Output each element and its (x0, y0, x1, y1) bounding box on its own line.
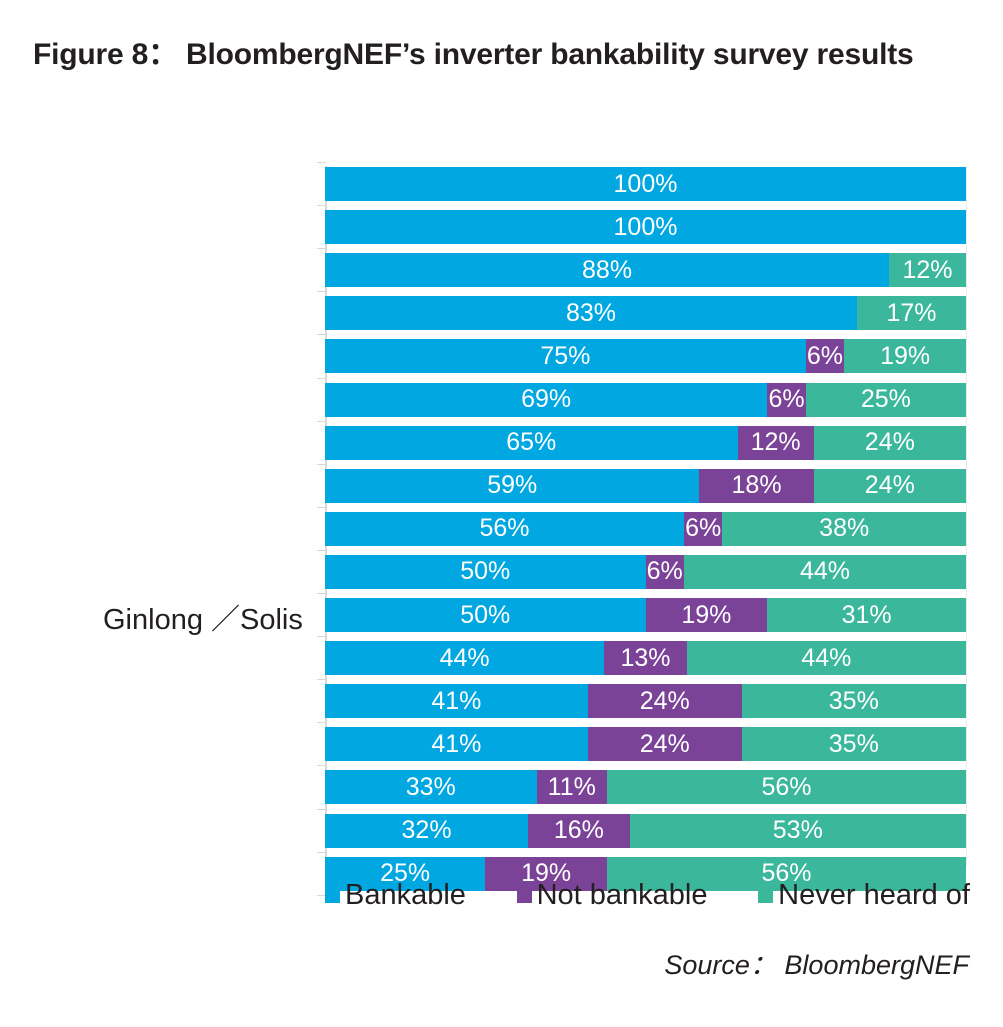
bar-segment-value: 41% (431, 732, 481, 757)
bar-segment-never-heard-of[interactable]: 31% (767, 598, 966, 632)
bar-segment-value: 75% (540, 344, 590, 369)
bar-row[interactable]: 50%6%44% (325, 555, 966, 589)
bar-row[interactable]: 69%6%25% (325, 383, 966, 417)
bar-segment-bankable[interactable]: 33% (325, 770, 537, 804)
y-axis-tick (317, 248, 326, 249)
y-axis-tick (317, 765, 326, 766)
bar-segment-never-heard-of[interactable]: 38% (722, 512, 966, 546)
source-note: Source： BloombergNEF (664, 943, 969, 982)
bar-segment-value: 50% (460, 603, 510, 628)
bar-segment-not-bankable[interactable]: 13% (604, 641, 687, 675)
bar-segment-value: 12% (903, 258, 953, 283)
y-axis-tick (317, 507, 326, 508)
bar-segment-value: 24% (865, 430, 915, 455)
bar-segment-not-bankable[interactable]: 6% (684, 512, 722, 546)
bar-segment-bankable[interactable]: 59% (325, 469, 699, 503)
bar-segment-never-heard-of[interactable]: 17% (857, 296, 966, 330)
legend-swatch-icon (758, 888, 773, 903)
bar-segment-never-heard-of[interactable]: 56% (607, 770, 966, 804)
bar-segment-value: 24% (865, 473, 915, 498)
bar-segment-value: 44% (801, 646, 851, 671)
legend-item-never-heard-of[interactable]: Never heard of (758, 881, 970, 910)
y-axis-tick (317, 722, 326, 723)
plot-right-gridline (966, 166, 967, 866)
bar-segment-never-heard-of[interactable]: 53% (630, 814, 966, 848)
bar-segment-not-bankable[interactable]: 18% (699, 469, 813, 503)
bar-segment-value: 6% (685, 516, 721, 541)
bar-segment-not-bankable[interactable]: 6% (646, 555, 684, 589)
bar-segment-bankable[interactable]: 100% (325, 210, 966, 244)
bar-segment-bankable[interactable]: 69% (325, 383, 767, 417)
bar-segment-bankable[interactable]: 75% (325, 339, 806, 373)
bar-segment-bankable[interactable]: 50% (325, 598, 646, 632)
y-axis-tick (317, 636, 326, 637)
bar-segment-value: 35% (829, 732, 879, 757)
bar-segment-value: 16% (554, 818, 604, 843)
bar-row[interactable]: 100% (325, 167, 966, 201)
bar-segment-value: 69% (521, 387, 571, 412)
bar-segment-value: 24% (640, 732, 690, 757)
bar-segment-not-bankable[interactable]: 19% (646, 598, 768, 632)
stacked-bar-chart: Ginlong ／Solis 100%100%88%12%83%17%75%6%… (0, 0, 1003, 1027)
bar-segment-bankable[interactable]: 88% (325, 253, 889, 287)
bar-segment-not-bankable[interactable]: 24% (588, 684, 742, 718)
bar-segment-value: 12% (751, 430, 801, 455)
y-axis-tick (317, 334, 326, 335)
bar-segment-value: 38% (819, 516, 869, 541)
bar-segment-value: 44% (440, 646, 490, 671)
bar-segment-value: 41% (431, 689, 481, 714)
bar-segment-value: 83% (566, 301, 616, 326)
bar-segment-not-bankable[interactable]: 6% (806, 339, 844, 373)
bar-segment-bankable[interactable]: 32% (325, 814, 528, 848)
y-axis-tick (317, 162, 326, 163)
y-axis-tick (317, 421, 326, 422)
bar-segment-never-heard-of[interactable]: 24% (814, 426, 966, 460)
legend: BankableNot bankableNever heard of (325, 881, 970, 910)
bar-segment-never-heard-of[interactable]: 35% (742, 684, 966, 718)
bar-row[interactable]: 83%17% (325, 296, 966, 330)
bar-segment-never-heard-of[interactable]: 24% (814, 469, 966, 503)
bar-row[interactable]: 44%13%44% (325, 641, 966, 675)
bar-segment-value: 19% (681, 603, 731, 628)
bar-row[interactable]: 41%24%35% (325, 684, 966, 718)
bar-segment-value: 31% (842, 603, 892, 628)
legend-item-bankable[interactable]: Bankable (325, 881, 466, 910)
bar-row[interactable]: 56%6%38% (325, 512, 966, 546)
bar-segment-value: 25% (861, 387, 911, 412)
y-axis-tick (317, 809, 326, 810)
bar-segment-bankable[interactable]: 100% (325, 167, 966, 201)
bar-row[interactable]: 100% (325, 210, 966, 244)
legend-swatch-icon (517, 888, 532, 903)
bar-segment-not-bankable[interactable]: 6% (767, 383, 805, 417)
y-axis-tick (317, 378, 326, 379)
bar-segment-not-bankable[interactable]: 16% (528, 814, 630, 848)
legend-label: Never heard of (778, 881, 970, 910)
bar-segment-bankable[interactable]: 50% (325, 555, 646, 589)
bar-segment-value: 11% (548, 775, 596, 800)
bar-row[interactable]: 65%12%24% (325, 426, 966, 460)
bar-row[interactable]: 41%24%35% (325, 727, 966, 761)
bar-segment-value: 6% (768, 387, 804, 412)
bar-segment-never-heard-of[interactable]: 44% (684, 555, 966, 589)
bar-segment-not-bankable[interactable]: 12% (738, 426, 814, 460)
bar-segment-bankable[interactable]: 44% (325, 641, 604, 675)
bar-segment-value: 19% (880, 344, 930, 369)
bar-segment-value: 44% (800, 559, 850, 584)
bar-segment-bankable[interactable]: 65% (325, 426, 738, 460)
bar-row[interactable]: 32%16%53% (325, 814, 966, 848)
y-axis-tick (317, 679, 326, 680)
bar-segment-value: 65% (506, 430, 556, 455)
bar-segment-not-bankable[interactable]: 24% (588, 727, 742, 761)
y-axis-tick (317, 464, 326, 465)
y-axis-tick (317, 550, 326, 551)
bar-segment-never-heard-of[interactable]: 12% (889, 253, 966, 287)
bar-segment-value: 100% (614, 215, 678, 240)
bar-segment-value: 88% (582, 258, 632, 283)
bar-segment-value: 13% (620, 646, 670, 671)
bar-segment-value: 6% (807, 344, 843, 369)
bar-segment-bankable[interactable]: 83% (325, 296, 857, 330)
bar-segment-never-heard-of[interactable]: 19% (844, 339, 966, 373)
bar-row[interactable]: 88%12% (325, 253, 966, 287)
y-axis-tick (317, 291, 326, 292)
y-axis-tick (317, 205, 326, 206)
bar-segment-value: 6% (647, 559, 683, 584)
bar-segment-bankable[interactable]: 56% (325, 512, 684, 546)
legend-label: Bankable (345, 881, 466, 910)
bar-segment-value: 56% (761, 775, 811, 800)
bar-segment-value: 24% (640, 689, 690, 714)
bar-segment-bankable[interactable]: 41% (325, 727, 588, 761)
bar-row[interactable]: 50%19%31% (325, 598, 966, 632)
bar-segment-bankable[interactable]: 41% (325, 684, 588, 718)
bar-segment-not-bankable[interactable]: 11% (537, 770, 608, 804)
bar-segment-value: 50% (460, 559, 510, 584)
bar-segment-never-heard-of[interactable]: 25% (806, 383, 966, 417)
bar-segment-never-heard-of[interactable]: 35% (742, 727, 966, 761)
y-axis-tick (317, 852, 326, 853)
bar-segment-value: 17% (886, 301, 936, 326)
legend-label: Not bankable (537, 881, 708, 910)
axis-category-label: Ginlong ／Solis (103, 596, 303, 638)
bar-segment-value: 56% (479, 516, 529, 541)
legend-item-not-bankable[interactable]: Not bankable (517, 881, 708, 910)
bar-segment-value: 100% (614, 172, 678, 197)
bar-segment-value: 18% (732, 473, 782, 498)
legend-swatch-icon (325, 888, 340, 903)
bar-segment-value: 59% (487, 473, 537, 498)
bar-row[interactable]: 59%18%24% (325, 469, 966, 503)
bar-segment-value: 35% (829, 689, 879, 714)
bar-segment-value: 32% (402, 818, 452, 843)
bar-segment-value: 33% (406, 775, 456, 800)
bar-row[interactable]: 75%6%19% (325, 339, 966, 373)
bar-segment-value: 53% (773, 818, 823, 843)
bar-segment-never-heard-of[interactable]: 44% (687, 641, 966, 675)
bar-row[interactable]: 33%11%56% (325, 770, 966, 804)
y-axis-tick (317, 593, 326, 594)
